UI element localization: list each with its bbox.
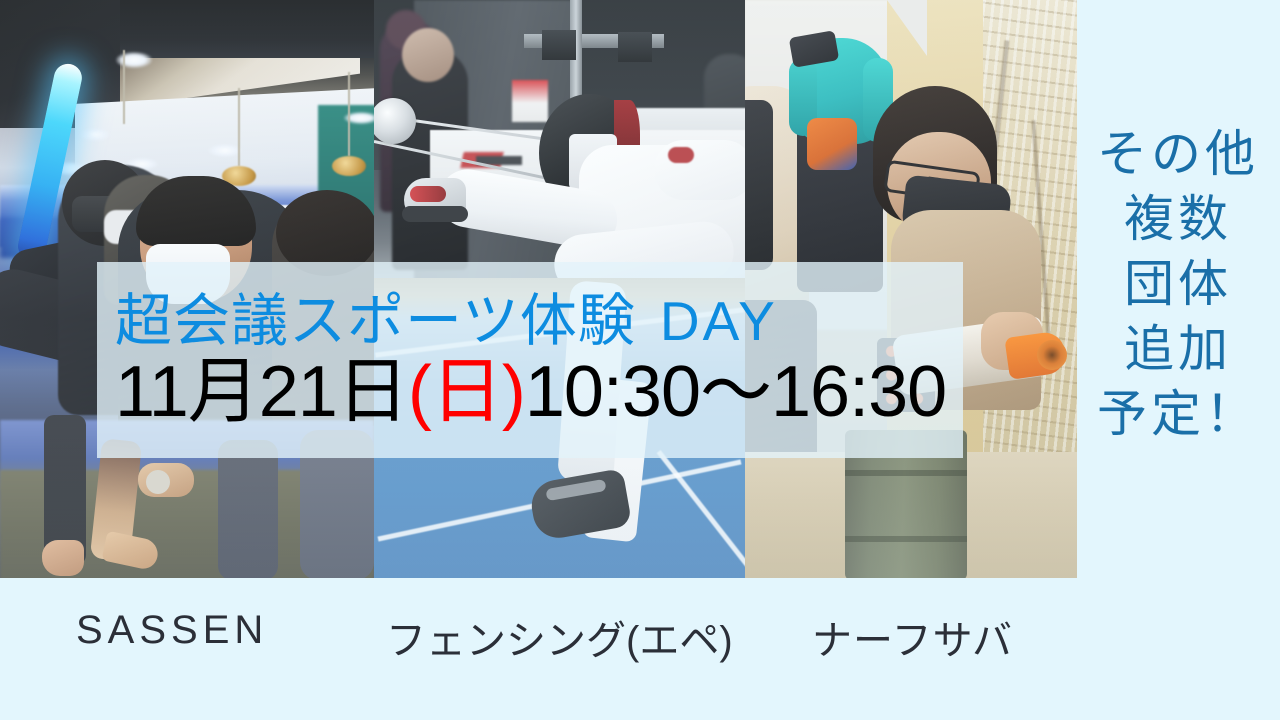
fencing-rig-box-1 bbox=[542, 30, 576, 60]
event-date-part1: 11月21日 bbox=[115, 352, 408, 432]
caption-nerf: ナーフサバ bbox=[812, 608, 1013, 666]
event-title-day: DAY bbox=[636, 290, 778, 352]
side-note-line-3: 団体 bbox=[1094, 252, 1262, 317]
fencing-red-equipment-box bbox=[512, 80, 548, 122]
event-title-main: 超会議スポーツ体験 bbox=[115, 289, 636, 353]
fencing-spectator-2-head bbox=[402, 28, 454, 82]
fencing-rig-box-2 bbox=[618, 32, 652, 62]
sassen-pendant-lamp-2 bbox=[332, 156, 366, 176]
nerf-yellow-wall-edge bbox=[887, 0, 927, 56]
event-poster: 超会議スポーツ体験DAY 11月21日(日)10:30〜16:30 その他 複数… bbox=[0, 0, 1280, 720]
event-date-weekday: (日) bbox=[408, 352, 525, 432]
side-note-line-5: 予定！ bbox=[1094, 382, 1262, 447]
caption-sassen: SASSEN bbox=[76, 608, 268, 653]
sassen-bare-foot-left bbox=[42, 540, 84, 576]
sassen-pendant-wire-2 bbox=[348, 72, 350, 156]
event-date-part2: 10:30〜16:30 bbox=[525, 352, 946, 432]
sassen-pendant-wire-1 bbox=[238, 88, 240, 166]
event-date-line: 11月21日(日)10:30〜16:30 bbox=[115, 356, 963, 428]
nerf-green-barrel-rib-1 bbox=[845, 470, 967, 476]
side-note-line-1: その他 bbox=[1094, 122, 1262, 187]
event-title-line: 超会議スポーツ体験DAY bbox=[115, 293, 963, 350]
sassen-sword-pommel bbox=[146, 470, 170, 494]
fencing-front-shoe-stripe bbox=[410, 186, 446, 202]
nerf-player-left-vest bbox=[745, 100, 773, 270]
sassen-spotlight-5 bbox=[208, 144, 242, 157]
side-note-line-2: 複数 bbox=[1094, 187, 1262, 252]
fencing-shoulder bbox=[654, 140, 745, 200]
nerf-secondary-blaster bbox=[807, 118, 857, 170]
fencing-front-shoe-sole bbox=[402, 206, 468, 222]
sassen-spotlight-1 bbox=[116, 52, 152, 68]
title-overlay-box: 超会議スポーツ体験DAY 11月21日(日)10:30〜16:30 bbox=[97, 262, 963, 458]
caption-row: SASSEN フェンシング(エペ) ナーフサバ bbox=[0, 598, 1077, 698]
sassen-leg-right bbox=[218, 440, 278, 578]
side-note-line-4: 追加 bbox=[1094, 317, 1262, 382]
caption-fencing: フェンシング(エペ) bbox=[386, 608, 733, 666]
sassen-pendant-wire-3 bbox=[123, 50, 125, 124]
side-note: その他 複数 団体 追加 予定！ bbox=[1094, 122, 1262, 447]
nerf-green-barrel-rib-2 bbox=[845, 536, 967, 542]
sassen-spotlight-2 bbox=[80, 128, 110, 141]
fencing-shoulder-patch bbox=[668, 147, 694, 163]
